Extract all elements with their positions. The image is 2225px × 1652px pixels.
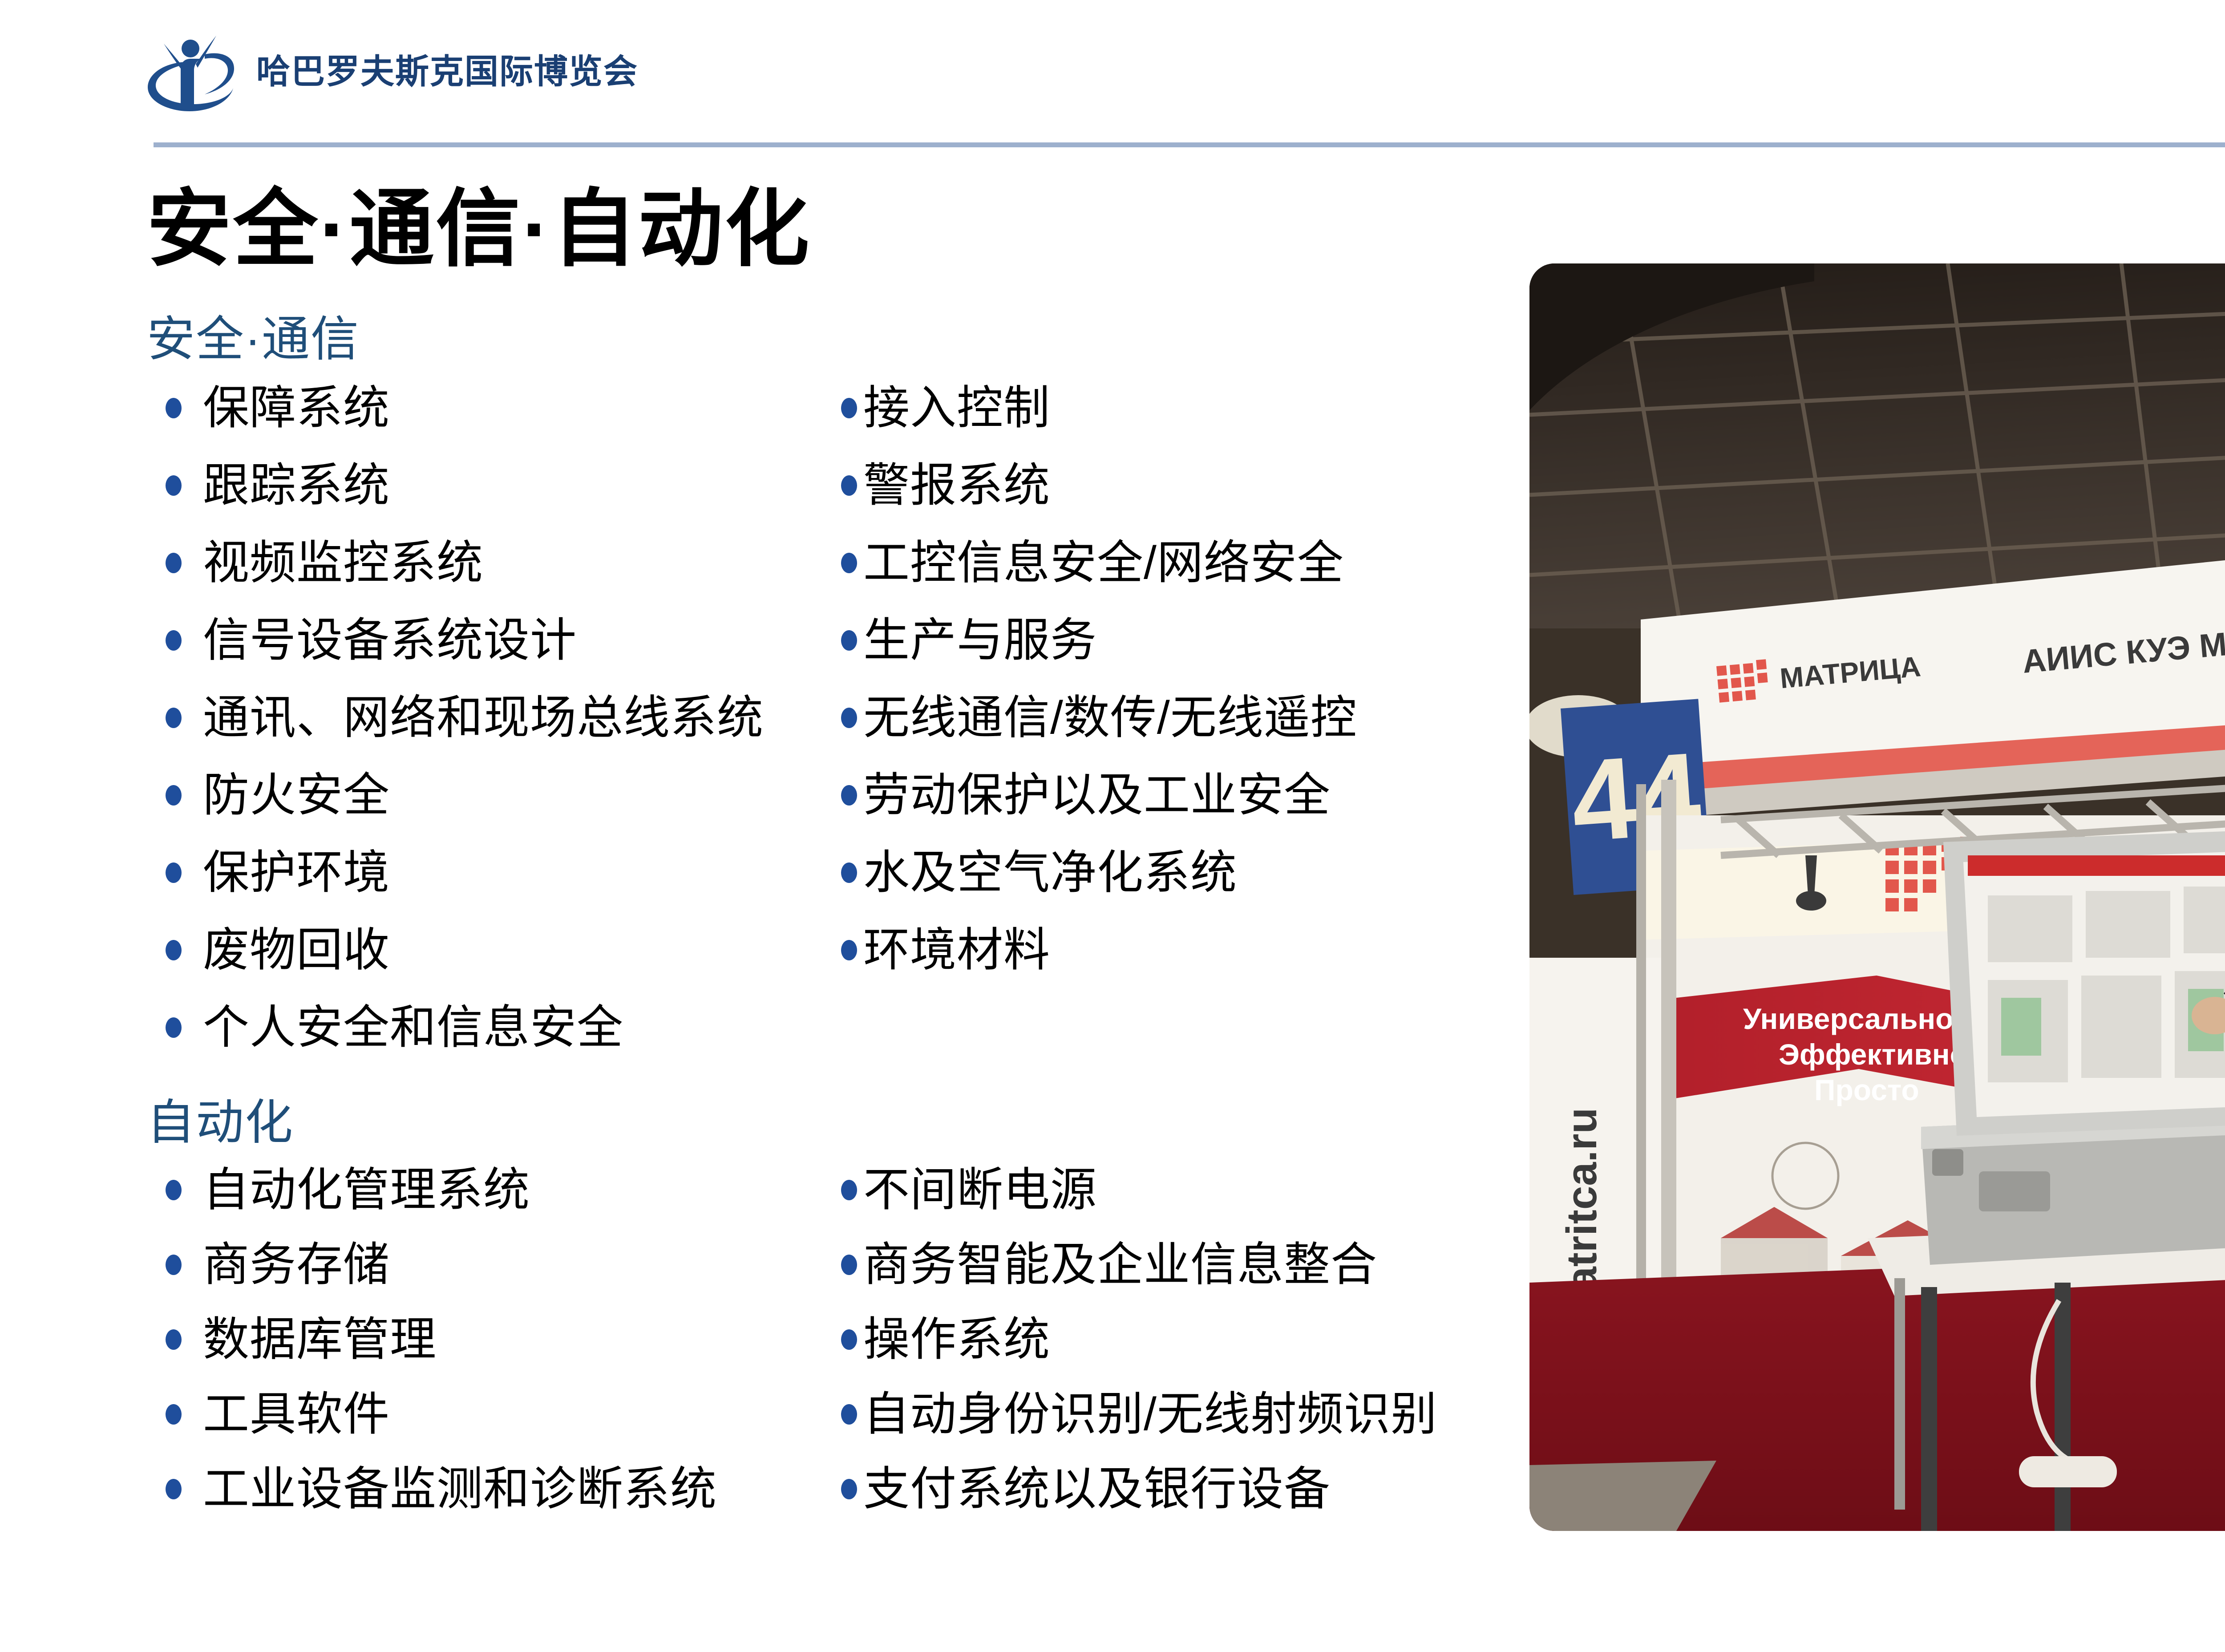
list-item[interactable]: 保护环境: [147, 834, 841, 911]
list-item[interactable]: 数据库管理: [147, 1302, 841, 1377]
section-security: 安全·通信 保障系统 跟踪系统 视频监控系统 信号设备系统设计: [147, 312, 1509, 1066]
list-item[interactable]: 跟踪系统: [147, 447, 841, 524]
content-area: 安全·通信 保障系统 跟踪系统 视频监控系统 信号设备系统设计: [147, 312, 1509, 1526]
photo-illustration: МАТРИЦА АИИС КУЭ Московская область г. Б…: [1529, 263, 2225, 1531]
list-item[interactable]: 工具软件: [147, 1377, 841, 1452]
list-item-label: 保障系统: [203, 385, 390, 431]
list-item[interactable]: 不间断电源: [841, 1153, 1509, 1227]
list-item[interactable]: 工业设备监测和诊断系统: [147, 1452, 841, 1526]
list-item[interactable]: 视频监控系统: [147, 524, 841, 602]
list-item-label: 支付系统以及银行设备: [863, 1466, 1331, 1512]
list-item-label: 防火安全: [203, 772, 390, 818]
bullet-dot-icon: [841, 553, 857, 573]
bullet-dot-icon: [166, 1329, 182, 1350]
list-item[interactable]: 工控信息安全/网络安全: [841, 524, 1509, 602]
list-item[interactable]: 商务智能及企业信息整合: [841, 1227, 1509, 1302]
bullet-dot-icon: [841, 1404, 857, 1425]
automation-left-list: 自动化管理系统 商务存储 数据库管理 工具软件 工业设备监测和诊断系统: [147, 1153, 841, 1526]
bullet-dot-icon: [166, 1404, 182, 1425]
bullet-dot-icon: [841, 940, 857, 960]
automation-right-list: 不间断电源 商务智能及企业信息整合 操作系统 自动身份识别/无线射频识别 支付系…: [841, 1153, 1509, 1526]
list-item[interactable]: 警报系统: [841, 447, 1509, 524]
list-item[interactable]: 操作系统: [841, 1302, 1509, 1377]
svg-text:Просто: Просто: [1814, 1073, 1919, 1106]
list-item-label: 不间断电源: [863, 1167, 1097, 1213]
list-item[interactable]: 自动化管理系统: [147, 1153, 841, 1227]
list-item-label: 水及空气净化系统: [863, 850, 1237, 896]
bullet-dot-icon: [166, 708, 182, 728]
list-item[interactable]: 环境材料: [841, 911, 1509, 989]
page-header: 哈巴罗夫斯克国际博览会 www.xhyexpo.com: [0, 0, 2225, 147]
list-item-label: 自动身份识别/无线射频识别: [863, 1391, 1437, 1437]
list-item-label: 保护环境: [203, 850, 390, 896]
list-item-label: 视频监控系统: [203, 540, 483, 586]
header-divider: [154, 142, 2225, 147]
bullet-dot-icon: [166, 1479, 182, 1499]
bullet-dot-icon: [166, 475, 182, 496]
bullet-dot-icon: [166, 553, 182, 573]
brand: 哈巴罗夫斯克国际博览会: [142, 28, 638, 117]
bullet-dot-icon: [841, 1255, 857, 1275]
security-left-list: 保障系统 跟踪系统 视频监控系统 信号设备系统设计 通讯、网络和现场总线系统: [147, 369, 841, 1066]
bullet-dot-icon: [166, 785, 182, 806]
list-item-label: 个人安全和信息安全: [203, 1004, 623, 1051]
bullet-dot-icon: [841, 475, 857, 496]
list-item-label: 跟踪系统: [203, 462, 390, 509]
bullet-dot-icon: [166, 862, 182, 883]
list-item-label: 信号设备系统设计: [203, 617, 577, 664]
bullet-dot-icon: [841, 1479, 857, 1499]
bullet-dot-icon: [166, 1255, 182, 1275]
svg-text:Эффективно: Эффективно: [1779, 1038, 1968, 1071]
section-heading-security: 安全·通信: [147, 312, 1509, 367]
list-item-label: 接入控制: [863, 385, 1050, 431]
list-item-label: 劳动保护以及工业安全: [863, 772, 1331, 818]
brand-name: 哈巴罗夫斯克国际博览会: [256, 55, 638, 89]
list-item-label: 通讯、网络和现场总线系统: [203, 695, 764, 741]
bullet-dot-icon: [841, 630, 857, 651]
list-item[interactable]: 无线通信/数传/无线遥控: [841, 679, 1509, 757]
list-item[interactable]: 保障系统: [147, 369, 841, 447]
bullet-dot-icon: [841, 708, 857, 728]
list-item-label: 生产与服务: [863, 617, 1097, 664]
list-item-label: 警报系统: [863, 462, 1050, 509]
list-item[interactable]: 通讯、网络和现场总线系统: [147, 679, 841, 757]
list-item[interactable]: 水及空气净化系统: [841, 834, 1509, 911]
bullet-dot-icon: [841, 1180, 857, 1200]
list-item-label: 数据库管理: [203, 1316, 437, 1363]
list-item[interactable]: 接入控制: [841, 369, 1509, 447]
bullet-dot-icon: [841, 398, 857, 418]
list-item[interactable]: 防火安全: [147, 757, 841, 834]
security-right-list: 接入控制 警报系统 工控信息安全/网络安全 生产与服务 无线通信/数传/无线遥控: [841, 369, 1509, 1066]
bullet-dot-icon: [841, 862, 857, 883]
list-item-label: 操作系统: [863, 1316, 1050, 1363]
section-automation: 自动化 自动化管理系统 商务存储 数据库管理 工具软件: [147, 1095, 1509, 1526]
list-item[interactable]: 劳动保护以及工业安全: [841, 757, 1509, 834]
bullet-dot-icon: [841, 785, 857, 806]
list-item-label: 环境材料: [863, 927, 1050, 973]
bullet-dot-icon: [166, 398, 182, 418]
exhibition-booth-photo: МАТРИЦА АИИС КУЭ Московская область г. Б…: [1529, 263, 2225, 1531]
bullet-dot-icon: [166, 940, 182, 960]
list-item-label: 工控信息安全/网络安全: [863, 540, 1344, 586]
list-item-label: 自动化管理系统: [203, 1167, 530, 1213]
list-item[interactable]: 商务存储: [147, 1227, 841, 1302]
person-swoosh-logo-icon: [142, 28, 245, 117]
list-item[interactable]: 废物回收: [147, 911, 841, 989]
list-item-label: 无线通信/数传/无线遥控: [863, 695, 1357, 741]
list-item-label: 工具软件: [203, 1391, 390, 1437]
bullet-dot-icon: [841, 1329, 857, 1350]
list-item[interactable]: 支付系统以及银行设备: [841, 1452, 1509, 1526]
svg-text:Универсально: Универсально: [1743, 1002, 1954, 1035]
bullet-dot-icon: [166, 1180, 182, 1200]
section-heading-automation: 自动化: [147, 1095, 1509, 1150]
list-item[interactable]: 个人安全和信息安全: [147, 989, 841, 1066]
list-item-label: 商务存储: [203, 1242, 390, 1288]
list-item-label: 废物回收: [203, 927, 390, 973]
bullet-dot-icon: [166, 1017, 182, 1038]
list-item[interactable]: 生产与服务: [841, 602, 1509, 679]
list-item[interactable]: 自动身份识别/无线射频识别: [841, 1377, 1509, 1452]
list-item-label: 工业设备监测和诊断系统: [203, 1466, 717, 1512]
list-item[interactable]: 信号设备系统设计: [147, 602, 841, 679]
bullet-dot-icon: [166, 630, 182, 651]
list-item-label: 商务智能及企业信息整合: [863, 1242, 1377, 1288]
page-title: 安全·通信·自动化: [147, 187, 811, 271]
